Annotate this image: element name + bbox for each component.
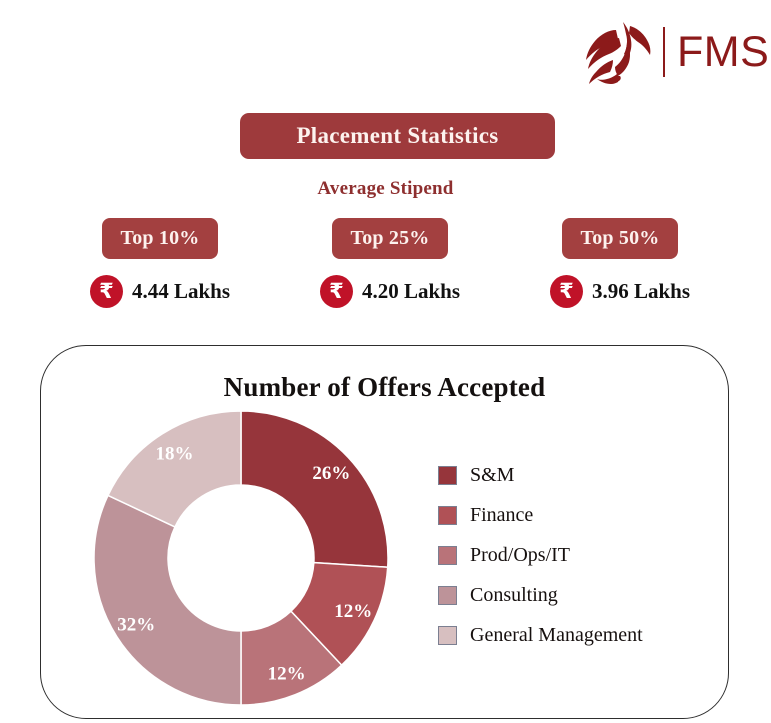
donut-chart: 26%12%12%32%18% [91,408,391,708]
offers-accepted-card: Number of Offers Accepted 26%12%12%32%18… [40,345,729,719]
chart-title: Number of Offers Accepted [41,372,728,403]
legend-item[interactable]: Prod/Ops/IT [438,544,643,566]
rupee-icon: ₹ [90,275,123,308]
donut-slice-label: 18% [156,443,194,464]
donut-slice [94,495,241,705]
legend-color-swatch [438,586,457,605]
rupee-icon: ₹ [320,275,353,308]
tier-label: Top 50% [580,227,659,250]
donut-slice-label: 12% [334,601,372,622]
legend-color-swatch [438,546,457,565]
brand-logo: FMS [583,14,745,90]
eagle-logo-icon [583,16,661,88]
tier-badge-top-10: Top 10% [102,218,218,259]
legend-item[interactable]: General Management [438,624,643,646]
tier-badge-top-25: Top 25% [332,218,448,259]
legend-color-swatch [438,466,457,485]
tier-badge-top-50: Top 50% [562,218,678,259]
tier-label: Top 10% [120,227,199,250]
legend-label: General Management [470,625,643,645]
legend-item[interactable]: Finance [438,504,643,526]
legend-label: Finance [470,505,533,525]
donut-slice [241,411,388,567]
tier-amount: 4.20 Lakhs [362,279,460,304]
page-title: Placement Statistics [296,123,498,149]
brand-divider [663,27,665,77]
donut-slice-label: 12% [268,663,306,684]
legend-item[interactable]: Consulting [438,584,643,606]
stipend-tier-top-50: Top 50% ₹ 3.96 Lakhs [520,218,720,308]
donut-slice-label: 26% [312,463,350,484]
legend-color-swatch [438,506,457,525]
stipend-tier-top-10: Top 10% ₹ 4.44 Lakhs [60,218,260,308]
page-title-banner: Placement Statistics [240,113,555,159]
section-subtitle: Average Stipend [0,178,771,200]
chart-legend: S&MFinanceProd/Ops/ITConsultingGeneral M… [438,464,643,646]
tier-value-row: ₹ 3.96 Lakhs [550,275,690,308]
tier-amount: 3.96 Lakhs [592,279,690,304]
brand-name: FMS [677,31,769,74]
legend-label: Consulting [470,585,558,605]
rupee-icon: ₹ [550,275,583,308]
tier-amount: 4.44 Lakhs [132,279,230,304]
stipend-tier-top-25: Top 25% ₹ 4.20 Lakhs [290,218,490,308]
legend-color-swatch [438,626,457,645]
donut-chart-svg: 26%12%12%32%18% [91,408,391,708]
tier-value-row: ₹ 4.20 Lakhs [320,275,460,308]
stipend-tier-group: Top 10% ₹ 4.44 Lakhs Top 25% ₹ 4.20 Lakh… [60,218,720,308]
legend-label: S&M [470,465,514,485]
tier-value-row: ₹ 4.44 Lakhs [90,275,230,308]
donut-slice-label: 32% [117,614,155,635]
legend-label: Prod/Ops/IT [470,545,570,565]
tier-label: Top 25% [350,227,429,250]
legend-item[interactable]: S&M [438,464,643,486]
